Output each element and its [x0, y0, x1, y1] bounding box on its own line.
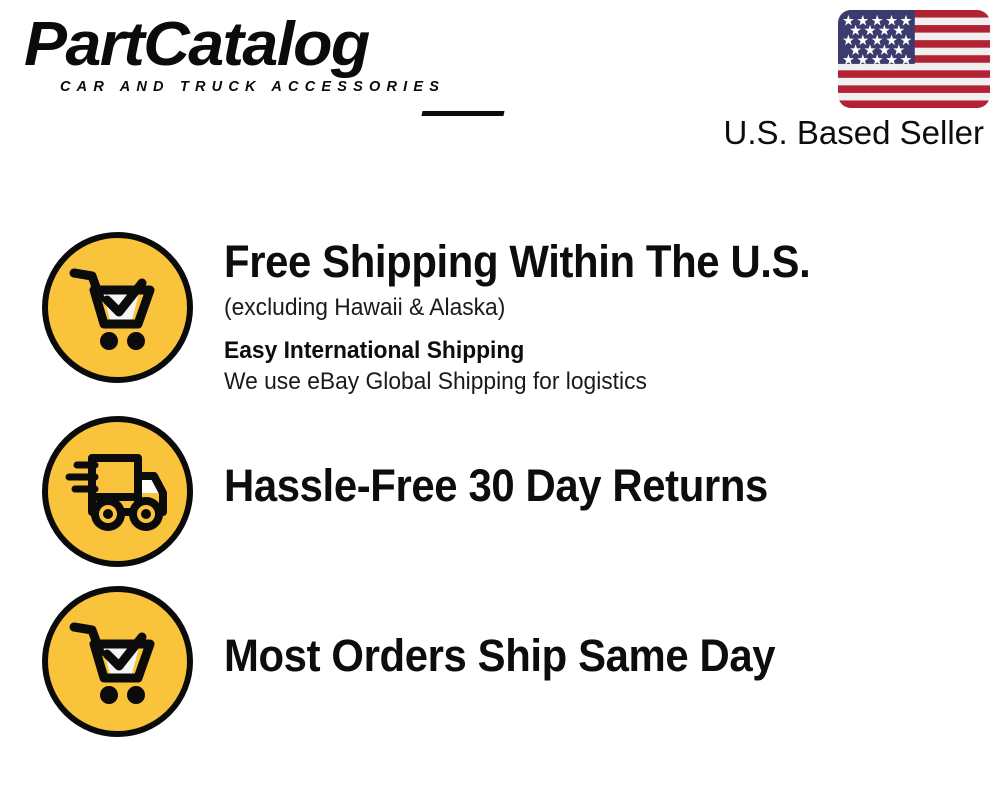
feature-title: Hassle-Free 30 Day Returns	[224, 462, 946, 510]
delivery-truck-icon	[42, 416, 193, 567]
banner-header: PartCatalog CAR AND TRUCK ACCESSORIES	[0, 0, 1000, 170]
feature-title: Most Orders Ship Same Day	[224, 632, 946, 680]
feature-subtitle-logistics: We use eBay Global Shipping for logistic…	[224, 367, 961, 396]
brand-logo: PartCatalog CAR AND TRUCK ACCESSORIES	[24, 14, 494, 114]
brand-underline-dash	[421, 111, 504, 116]
us-based-seller-block: U.S. Based Seller	[694, 10, 994, 151]
promo-banner: PartCatalog CAR AND TRUCK ACCESSORIES	[0, 0, 1000, 800]
feature-title: Free Shipping Within The U.S.	[224, 238, 946, 286]
feature-text: Most Orders Ship Same Day	[224, 586, 1000, 680]
feature-subtitle-international: Easy International Shipping	[224, 336, 961, 365]
feature-row: Hassle-Free 30 Day Returns	[0, 416, 1000, 567]
shopping-cart-check-icon	[42, 232, 193, 383]
us-based-seller-label: U.S. Based Seller	[694, 115, 984, 151]
feature-row: Most Orders Ship Same Day	[0, 586, 1000, 737]
feature-text: Free Shipping Within The U.S. (excluding…	[224, 232, 1000, 396]
feature-row: Free Shipping Within The U.S. (excluding…	[0, 232, 1000, 396]
us-flag-icon	[838, 10, 990, 108]
feature-text: Hassle-Free 30 Day Returns	[224, 416, 1000, 510]
shopping-cart-check-icon	[42, 586, 193, 737]
brand-wordmark: PartCatalog	[24, 14, 513, 76]
feature-subtitle-exclusions: (excluding Hawaii & Alaska)	[224, 293, 961, 322]
brand-tagline: CAR AND TRUCK ACCESSORIES	[60, 80, 494, 95]
